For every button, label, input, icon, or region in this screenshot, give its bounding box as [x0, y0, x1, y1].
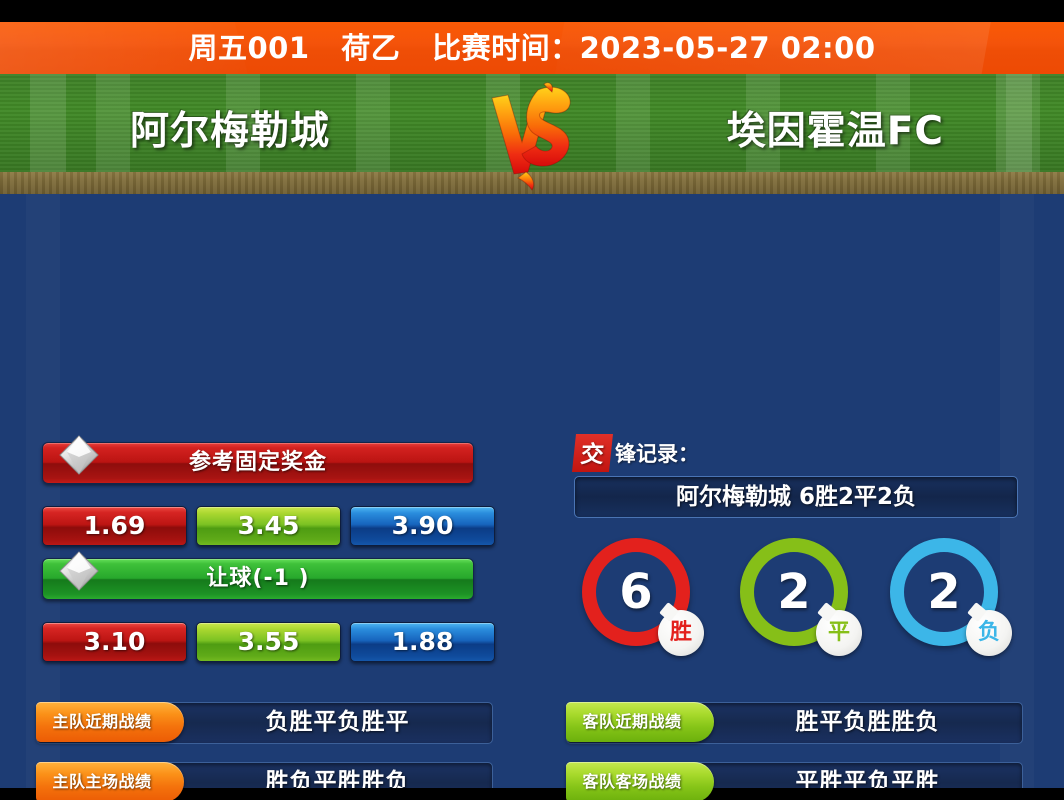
grass-stripe	[30, 74, 66, 174]
h2h-ring-loss: 2 负	[890, 538, 998, 646]
away-team-name: 埃因霍温FC	[727, 100, 944, 156]
vs-icon	[478, 80, 586, 192]
fixed-odd-away[interactable]: 3.90	[350, 506, 495, 546]
match-header-bar: 周五001 荷乙 比赛时间：2023-05-27 02:00	[0, 22, 1064, 74]
home-venue-form-tab-label: 主队主场战绩	[36, 762, 168, 800]
fixed-odd-home[interactable]: 1.69	[42, 506, 187, 546]
home-recent-form-value: 负胜平负胜平	[184, 702, 491, 742]
handicap-odd-home[interactable]: 3.10	[42, 622, 187, 662]
home-recent-form-tab-label: 主队近期战绩	[36, 702, 168, 742]
h2h-ring-draw: 2 平	[740, 538, 848, 646]
away-venue-form-tab: 客队客场战绩	[566, 762, 714, 800]
main-stats-panel: 参考固定奖金 1.69 3.45 3.90 让球(-1 ) 3.10 3.55 …	[0, 194, 1064, 800]
ring-draw-badge: 平	[816, 610, 862, 656]
handicap-title: 让球(-1 )	[43, 559, 473, 599]
away-recent-form-value: 胜平负胜胜负	[714, 702, 1021, 742]
top-letterbox	[0, 0, 1064, 22]
match-preview-infographic: 周五001 荷乙 比赛时间：2023-05-27 02:00 阿尔梅勒城 埃因霍…	[0, 0, 1064, 800]
h2h-chip: 交	[572, 434, 613, 472]
h2h-heading-text: 锋记录：	[615, 438, 699, 468]
home-venue-form-tab: 主队主场战绩	[36, 762, 184, 800]
ring-win-badge: 胜	[658, 610, 704, 656]
diamond-icon	[57, 549, 101, 593]
home-team-name: 阿尔梅勒城	[130, 100, 330, 156]
away-venue-form-tab-label: 客队客场战绩	[566, 762, 698, 800]
grass-stripe	[996, 74, 1032, 174]
away-recent-form-tab: 客队近期战绩	[566, 702, 714, 742]
home-recent-form-tab: 主队近期战绩	[36, 702, 184, 742]
fixed-odds-header: 参考固定奖金	[42, 442, 474, 484]
diamond-icon	[57, 433, 101, 477]
h2h-ring-win: 6 胜	[582, 538, 690, 646]
handicap-odd-draw[interactable]: 3.55	[196, 622, 341, 662]
home-recent-form-row: 主队近期战绩 负胜平负胜平	[36, 702, 491, 742]
handicap-odd-away[interactable]: 1.88	[350, 622, 495, 662]
h2h-heading: 交锋记录：	[574, 434, 699, 464]
fixed-odds-title: 参考固定奖金	[43, 443, 473, 483]
fixed-odd-draw[interactable]: 3.45	[196, 506, 341, 546]
ring-loss-badge: 负	[966, 610, 1012, 656]
match-header-title: 周五001 荷乙 比赛时间：2023-05-27 02:00	[0, 22, 1064, 74]
h2h-record-box: 阿尔梅勒城 6胜2平2负	[574, 476, 1018, 518]
away-recent-form-row: 客队近期战绩 胜平负胜胜负	[566, 702, 1021, 742]
handicap-header: 让球(-1 )	[42, 558, 474, 600]
away-recent-form-tab-label: 客队近期战绩	[566, 702, 698, 742]
